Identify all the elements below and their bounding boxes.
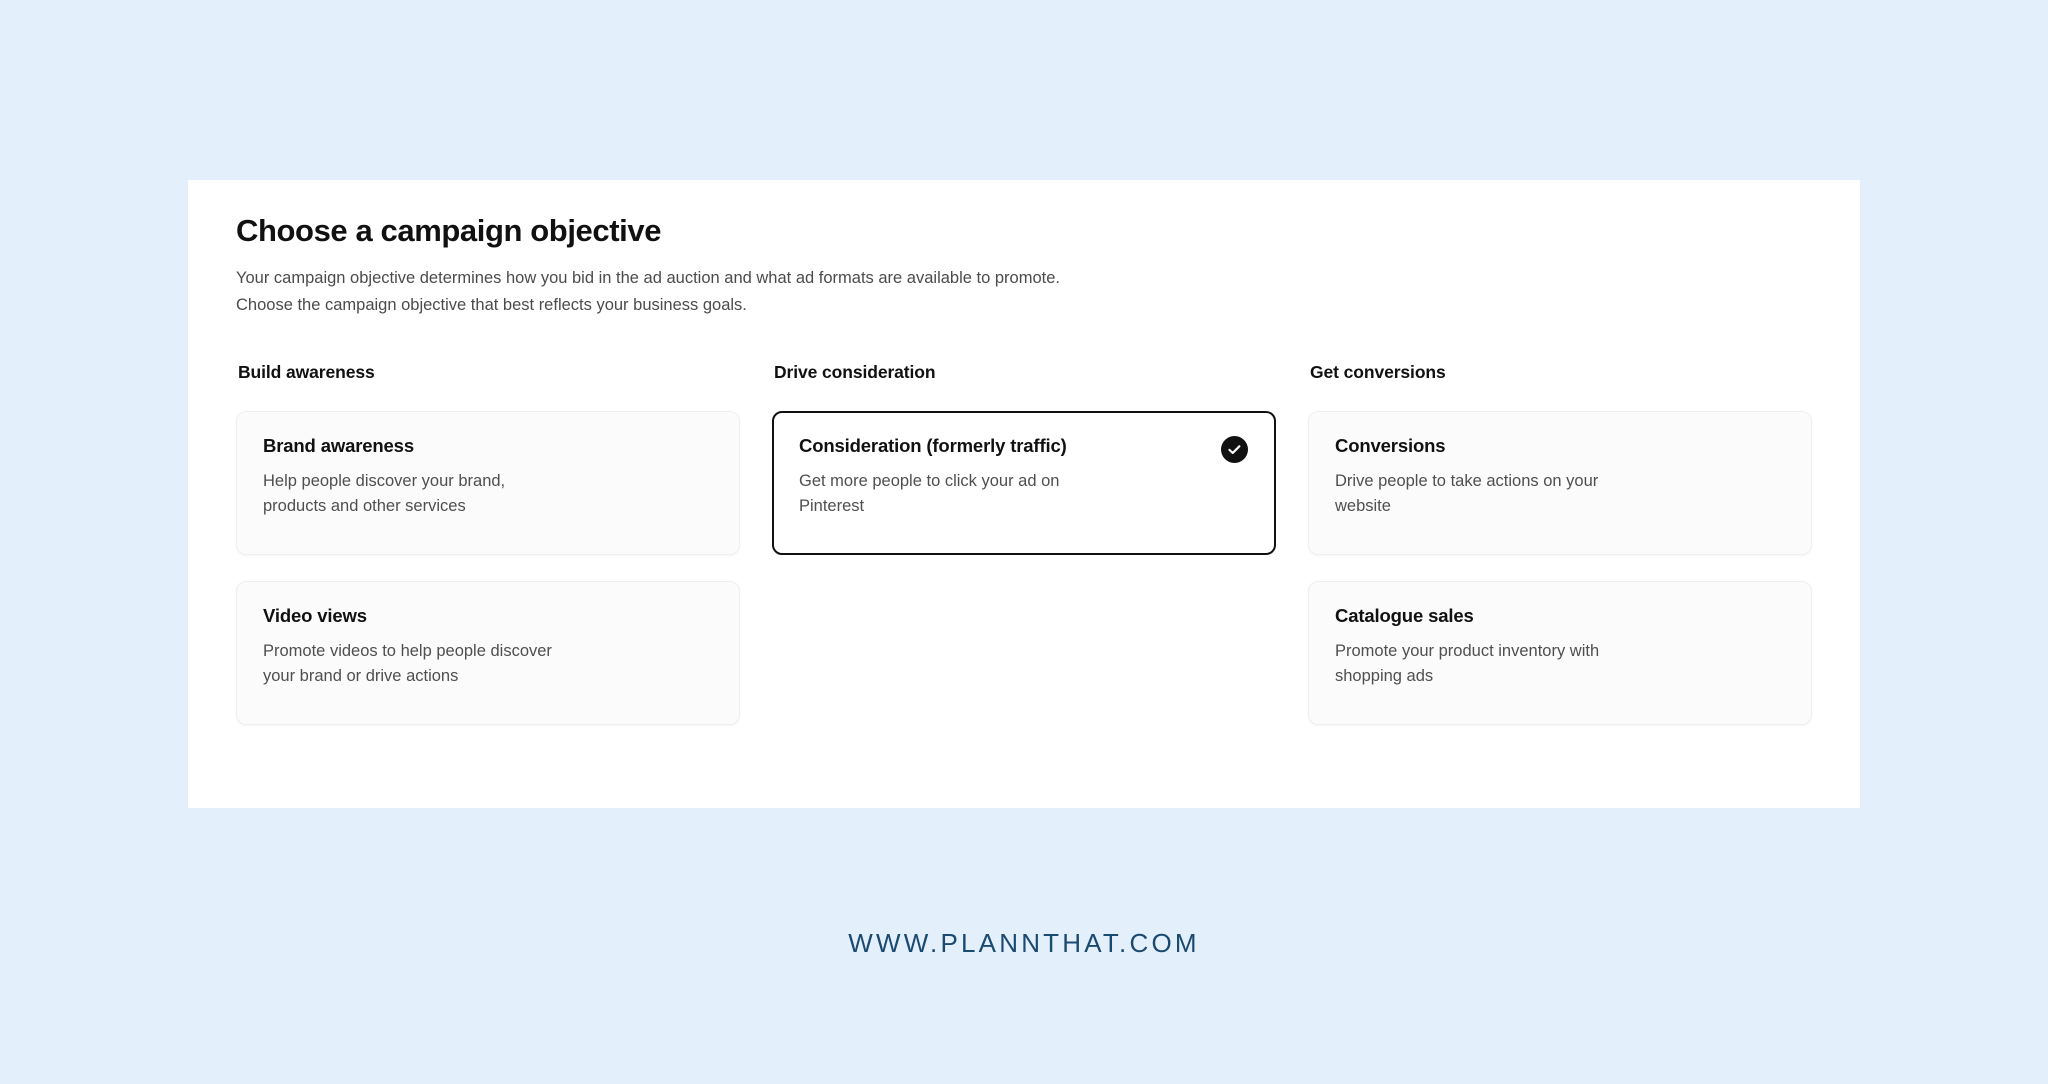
objective-columns: Build awareness Brand awareness Help peo…: [236, 362, 1812, 725]
objective-card-description: Promote your product inventory with shop…: [1335, 639, 1755, 689]
objective-card-description-line-1: Drive people to take actions on your: [1335, 469, 1755, 494]
objective-card-title: Consideration (formerly traffic): [799, 434, 1249, 458]
objective-card-catalogue-sales[interactable]: Catalogue sales Promote your product inv…: [1308, 581, 1812, 725]
check-circle-filled-icon: [1221, 436, 1248, 463]
objective-card-description-line-2: shopping ads: [1335, 664, 1755, 689]
objective-card-description: Get more people to click your ad on Pint…: [799, 469, 1219, 519]
objective-card-description-line-1: Help people discover your brand,: [263, 469, 683, 494]
objective-card-description-line-1: Promote videos to help people discover: [263, 639, 683, 664]
objective-card-title: Video views: [263, 604, 713, 628]
objective-card-description-line-1: Promote your product inventory with: [1335, 639, 1755, 664]
campaign-objective-panel: Choose a campaign objective Your campaig…: [188, 180, 1860, 808]
objective-card-description-line-2: products and other services: [263, 494, 683, 519]
page-subtitle: Your campaign objective determines how y…: [236, 265, 1416, 318]
page-subtitle-line-1: Your campaign objective determines how y…: [236, 265, 1416, 292]
column-heading-get-conversions: Get conversions: [1308, 362, 1812, 383]
objective-card-consideration[interactable]: Consideration (formerly traffic) Get mor…: [772, 411, 1276, 555]
card-list-build-awareness: Brand awareness Help people discover you…: [236, 411, 740, 725]
objective-card-title: Catalogue sales: [1335, 604, 1785, 628]
site-watermark: WWW.PLANNTHAT.COM: [0, 928, 2048, 959]
screenshot-root: Choose a campaign objective Your campaig…: [0, 0, 2048, 1084]
objective-card-description-line-2: website: [1335, 494, 1755, 519]
column-heading-build-awareness: Build awareness: [236, 362, 740, 383]
card-list-get-conversions: Conversions Drive people to take actions…: [1308, 411, 1812, 725]
objective-card-conversions[interactable]: Conversions Drive people to take actions…: [1308, 411, 1812, 555]
objective-card-description: Promote videos to help people discover y…: [263, 639, 683, 689]
objective-card-description-line-1: Get more people to click your ad on: [799, 469, 1219, 494]
objective-column-get-conversions: Get conversions Conversions Drive people…: [1308, 362, 1812, 725]
objective-column-build-awareness: Build awareness Brand awareness Help peo…: [236, 362, 740, 725]
objective-card-brand-awareness[interactable]: Brand awareness Help people discover you…: [236, 411, 740, 555]
panel-content: Choose a campaign objective Your campaig…: [236, 212, 1812, 725]
objective-card-description: Drive people to take actions on your web…: [1335, 469, 1755, 519]
objective-card-description: Help people discover your brand, product…: [263, 469, 683, 519]
objective-card-description-line-2: Pinterest: [799, 494, 1219, 519]
card-list-drive-consideration: Consideration (formerly traffic) Get mor…: [772, 411, 1276, 581]
objective-card-video-views[interactable]: Video views Promote videos to help peopl…: [236, 581, 740, 725]
column-heading-drive-consideration: Drive consideration: [772, 362, 1276, 383]
objective-card-title: Brand awareness: [263, 434, 713, 458]
page-subtitle-line-2: Choose the campaign objective that best …: [236, 292, 1416, 319]
objective-card-title: Conversions: [1335, 434, 1785, 458]
objective-column-drive-consideration: Drive consideration Consideration (forme…: [772, 362, 1276, 725]
objective-card-description-line-2: your brand or drive actions: [263, 664, 683, 689]
page-title: Choose a campaign objective: [236, 212, 1812, 250]
